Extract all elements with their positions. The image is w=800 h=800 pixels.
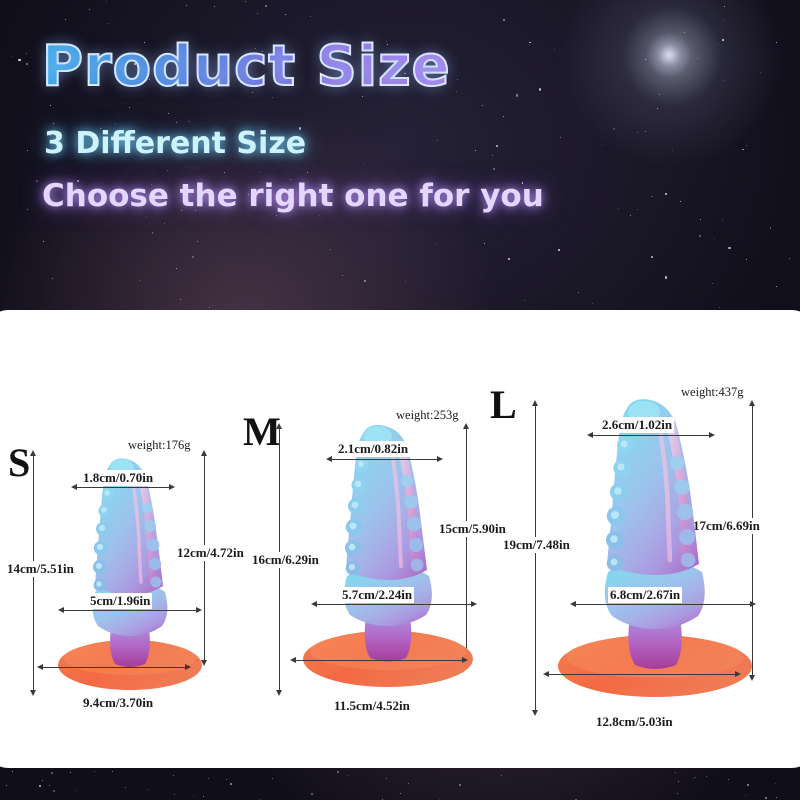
tip-width-line-s <box>76 487 170 488</box>
base-width-label-s: 9.4cm/3.70in <box>83 695 153 711</box>
tip-width-arrow-left-l <box>587 432 593 438</box>
body-width-arrow-right-l <box>750 601 756 607</box>
body-width-line-s <box>63 610 197 611</box>
total-length-arrow-top-s <box>30 450 36 456</box>
body-width-arrow-right-m <box>471 601 477 607</box>
base-width-arrow-left-s <box>37 664 43 670</box>
base-width-arrow-left-m <box>290 657 296 663</box>
body-width-line-l <box>575 604 751 605</box>
infographic-stage: Product Size 3 Different Size Choose the… <box>0 0 800 800</box>
body-width-label-l: 6.8cm/2.67in <box>608 587 682 603</box>
base-width-line-l <box>548 674 736 675</box>
base-width-arrow-left-l <box>543 671 549 677</box>
subtitle-line-2: Choose the right one for you <box>42 178 544 214</box>
total-length-line-l <box>535 405 536 710</box>
tip-width-label-m: 2.1cm/0.82in <box>336 441 410 457</box>
size-letter-s: S <box>8 443 30 483</box>
base-width-label-l: 12.8cm/5.03in <box>596 714 673 730</box>
tip-width-arrow-left-s <box>71 484 77 490</box>
base-width-line-m <box>295 660 463 661</box>
total-length-arrow-bottom-s <box>30 690 36 696</box>
total-length-arrow-top-l <box>532 400 538 406</box>
product-image-l <box>555 392 755 712</box>
tip-width-arrow-right-s <box>169 484 175 490</box>
base-width-arrow-right-m <box>462 657 468 663</box>
body-width-arrow-left-m <box>311 601 317 607</box>
size-letter-m: M <box>243 412 281 452</box>
tip-width-line-m <box>331 459 438 460</box>
total-length-arrow-bottom-l <box>532 710 538 716</box>
body-width-arrow-left-s <box>58 607 64 613</box>
body-width-label-m: 5.7cm/2.24in <box>340 587 414 603</box>
subtitle-line-1: 3 Different Size <box>44 126 306 161</box>
body-width-arrow-right-s <box>196 607 202 613</box>
body-width-arrow-left-l <box>570 601 576 607</box>
tip-width-label-l: 2.6cm/1.02in <box>600 417 674 433</box>
weight-label-s: weight:176g <box>128 438 191 453</box>
tip-width-arrow-right-l <box>709 432 715 438</box>
base-width-arrow-right-l <box>735 671 741 677</box>
body-width-line-m <box>316 604 472 605</box>
total-length-arrow-bottom-m <box>276 690 282 696</box>
size-letter-l: L <box>490 385 517 425</box>
total-length-arrow-top-m <box>276 423 282 429</box>
base-width-arrow-right-s <box>185 664 191 670</box>
tip-width-arrow-left-m <box>326 456 332 462</box>
base-width-label-m: 11.5cm/4.52in <box>334 698 410 714</box>
base-width-line-s <box>42 667 186 668</box>
product-image-s <box>55 452 205 702</box>
star-cluster-glow <box>646 32 692 78</box>
tip-width-label-s: 1.8cm/0.70in <box>81 470 155 486</box>
tip-width-arrow-right-m <box>437 456 443 462</box>
tip-width-line-l <box>592 435 710 436</box>
page-title: Product Size <box>42 34 451 99</box>
body-width-label-s: 5cm/1.96in <box>88 593 152 609</box>
